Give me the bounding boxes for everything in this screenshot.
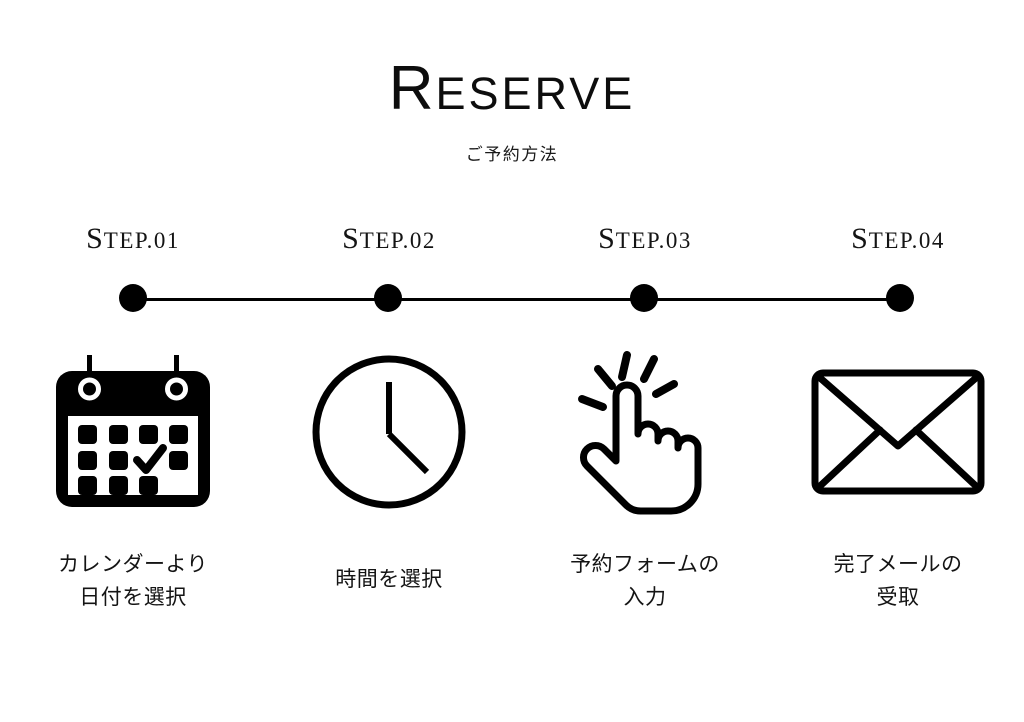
step-icon-1 [5, 352, 261, 512]
step-icon-2 [261, 352, 517, 512]
envelope-icon [810, 368, 986, 496]
calendar-icon [47, 353, 219, 511]
step-caption-1-line2: 日付を選択 [5, 581, 261, 614]
step-caption-4: 完了メールの 受取 [770, 548, 1024, 613]
step-label-2: STEP.02 [261, 222, 517, 256]
step-label-2-rest: TEP.02 [360, 228, 436, 253]
step-label-4-rest: TEP.04 [869, 228, 945, 253]
step-label-1: STEP.01 [5, 222, 261, 256]
reserve-infographic: RESERVE ご予約方法 STEP.01 [0, 0, 1024, 722]
step-caption-3: 予約フォームの 入力 [517, 548, 773, 613]
step-icon-3 [517, 352, 773, 512]
steps-container: STEP.01 [0, 0, 1024, 722]
step-icon-4 [770, 352, 1024, 512]
step-caption-4-line2: 受取 [770, 581, 1024, 614]
step-label-1-rest: TEP.01 [104, 228, 180, 253]
step-label-3-initial: S [598, 222, 616, 255]
step-label-1-initial: S [86, 222, 104, 255]
step-caption-1: カレンダーより 日付を選択 [5, 548, 261, 613]
step-caption-3-line2: 入力 [517, 581, 773, 614]
step-caption-1-line1: カレンダーより [5, 548, 261, 581]
step-label-3-rest: TEP.03 [616, 228, 692, 253]
step-label-4: STEP.04 [770, 222, 1024, 256]
clock-icon [309, 352, 469, 512]
step-label-3: STEP.03 [517, 222, 773, 256]
step-caption-2-line1: 時間を選択 [261, 563, 517, 596]
pointing-hand-click-icon [570, 349, 720, 515]
step-label-4-initial: S [851, 222, 869, 255]
step-caption-4-line1: 完了メールの [770, 548, 1024, 581]
step-label-2-initial: S [342, 222, 360, 255]
step-caption-2: 時間を選択 [261, 563, 517, 596]
step-caption-3-line1: 予約フォームの [517, 548, 773, 581]
